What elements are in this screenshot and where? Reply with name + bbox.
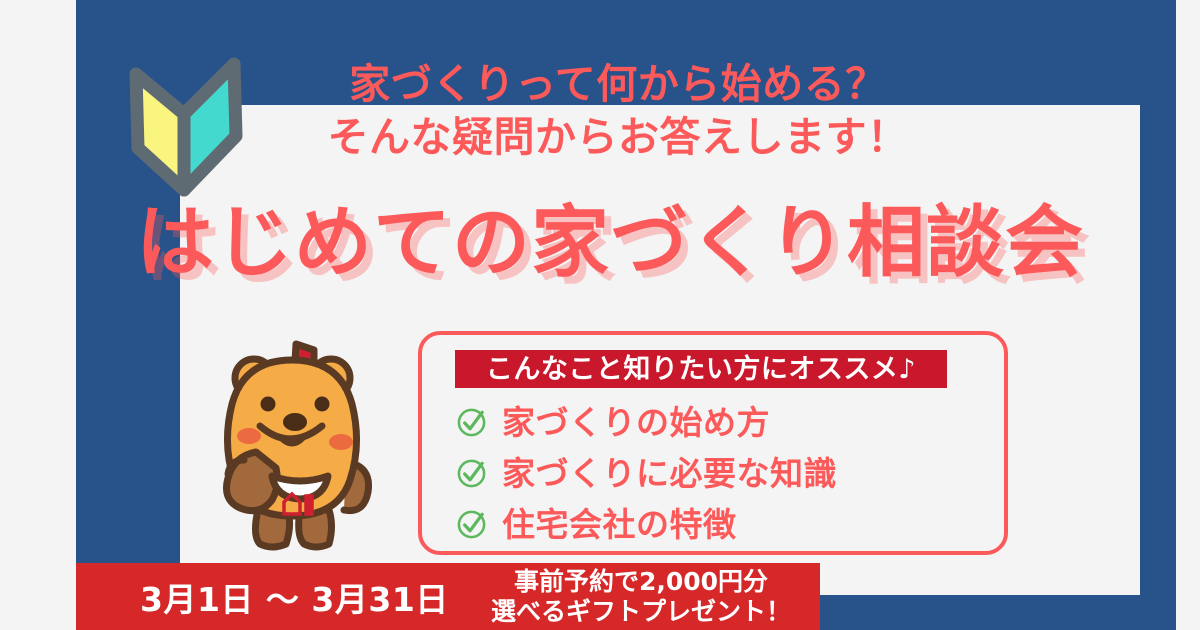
campaign-date-range: 3月1日 ～ 3月31日 [140,563,449,630]
check-circle-icon [456,407,487,438]
recommend-card: こんなこと知りたい方にオススメ♪ 家づくりの始め方 家づくりに必要な知識 [418,331,1008,555]
gift-line-1: 事前予約で2,000円分 [514,567,768,597]
list-item: 住宅会社の特徴 [456,499,976,550]
recommend-list: 家づくりの始め方 家づくりに必要な知識 住宅会社の特徴 [456,397,976,550]
card-header-label: こんなこと知りたい方にオススメ♪ [486,356,916,383]
frame-right-bar [1140,0,1176,630]
subtitle-line-1: 家づくりって何から始める？ [268,58,968,111]
gift-offer-text: 事前予約で2,000円分 選べるギフトプレゼント！ [476,563,806,630]
subtitle-block: 家づくりって何から始める？ そんな疑問からお答えします！ [268,58,968,165]
card-header-band: こんなこと知りたい方にオススメ♪ [455,350,947,388]
list-item: 家づくりの始め方 [456,397,976,448]
page-title: はじめての家づくり相談会 [90,203,1130,285]
gift-line-2: 選べるギフトプレゼント！ [491,597,791,627]
check-circle-icon [456,458,487,489]
wakaba-leaf-icon [126,52,246,197]
check-circle-icon [456,509,487,540]
list-item: 家づくりに必要な知識 [456,448,976,499]
list-item-label: 住宅会社の特徴 [502,508,737,541]
subtitle-line-2: そんな疑問からお答えします！ [268,111,968,164]
promo-banner: 家づくりって何から始める？ そんな疑問からお答えします！ はじめての家づくり相談… [0,0,1200,630]
list-item-label: 家づくりの始め方 [502,406,770,439]
campaign-bar: 3月1日 ～ 3月31日 事前予約で2,000円分 選べるギフトプレゼント！ [76,563,820,630]
list-item-label: 家づくりに必要な知識 [502,457,837,490]
bear-mascot-thumbs-up [196,334,386,560]
